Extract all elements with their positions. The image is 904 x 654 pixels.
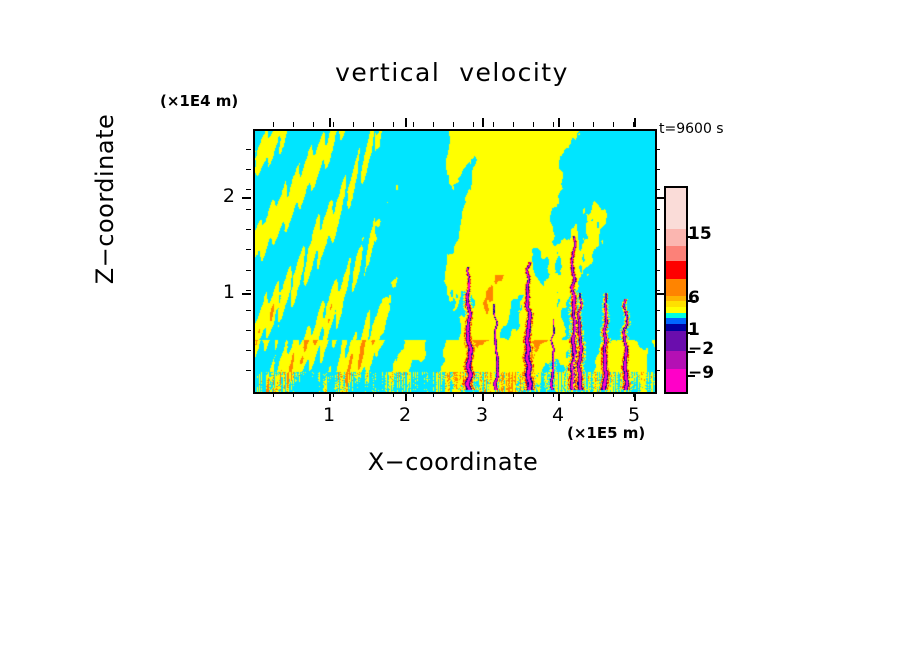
y-axis-minor-tick <box>655 370 660 371</box>
colorbar-tick-label: −9 <box>688 363 714 383</box>
x-axis-minor-tick <box>453 392 454 397</box>
x-axis-minor-tick <box>533 122 534 127</box>
time-annotation: t=9600 s <box>659 121 724 137</box>
x-axis-minor-tick <box>333 122 334 127</box>
y-axis-minor-tick <box>655 229 660 230</box>
y-axis-minor-tick <box>246 189 251 190</box>
x-axis-tick-label: 1 <box>309 404 349 426</box>
y-axis-minor-tick <box>246 290 251 291</box>
colorbar-tick-label: 6 <box>688 288 700 308</box>
x-axis-minor-tick <box>533 392 534 397</box>
y-axis-major-tick <box>242 293 251 295</box>
x-axis-minor-tick <box>553 122 554 127</box>
x-axis-minor-tick <box>573 392 574 397</box>
y-axis-minor-tick <box>246 209 251 210</box>
x-axis-minor-tick <box>293 122 294 127</box>
y-axis-minor-tick <box>655 209 660 210</box>
y-axis-minor-tick <box>655 270 660 271</box>
x-axis-minor-tick <box>293 392 294 397</box>
x-axis-major-tick <box>634 118 636 127</box>
x-axis-minor-tick <box>373 392 374 397</box>
y-axis-major-tick <box>655 293 664 295</box>
y-axis-tick-label: 2 <box>195 185 235 207</box>
y-axis-minor-tick <box>246 229 251 230</box>
x-axis-major-tick <box>482 392 484 401</box>
x-axis-tick-label: 4 <box>538 404 578 426</box>
x-axis-major-tick <box>482 118 484 127</box>
y-axis-minor-tick <box>246 350 251 351</box>
y-axis-minor-tick <box>246 330 251 331</box>
x-axis-minor-tick <box>373 122 374 127</box>
x-axis-minor-tick <box>613 122 614 127</box>
x-axis-minor-tick <box>513 392 514 397</box>
x-axis-minor-tick <box>473 392 474 397</box>
y-axis-tick-label: 1 <box>195 281 235 303</box>
x-axis-minor-tick <box>433 392 434 397</box>
y-axis-minor-tick <box>246 370 251 371</box>
x-axis-minor-tick <box>513 122 514 127</box>
x-axis-tick-label: 3 <box>462 404 502 426</box>
colorbar-band-3 <box>666 261 686 279</box>
colorbar-tick-label: 1 <box>688 320 700 340</box>
page-title: vertical velocity <box>0 58 904 87</box>
colorbar <box>664 186 688 394</box>
contour-field <box>255 131 655 392</box>
x-axis-minor-tick <box>453 122 454 127</box>
x-axis-minor-tick <box>353 122 354 127</box>
y-axis-minor-tick <box>655 169 660 170</box>
x-axis-minor-tick <box>433 122 434 127</box>
x-axis-minor-tick <box>313 392 314 397</box>
y-axis-title: Z−coordinate <box>91 74 119 324</box>
y-axis-minor-tick <box>655 310 660 311</box>
x-axis-title: X−coordinate <box>253 448 653 476</box>
x-axis-minor-tick <box>493 122 494 127</box>
x-axis-tick-label: 5 <box>614 404 654 426</box>
x-axis-minor-tick <box>273 122 274 127</box>
colorbar-tick-label: −2 <box>688 339 714 359</box>
colorbar-band-1 <box>666 229 686 246</box>
y-axis-minor-tick <box>655 249 660 250</box>
colorbar-band-13 <box>666 369 686 392</box>
x-axis-minor-tick <box>573 122 574 127</box>
y-axis-minor-tick <box>655 290 660 291</box>
x-axis-minor-tick <box>353 392 354 397</box>
figure-canvas: vertical velocity (×1E4 m) (×1E5 m) t=96… <box>0 0 904 654</box>
x-axis-major-tick <box>329 392 331 401</box>
y-axis-minor-tick <box>246 249 251 250</box>
x-axis-major-tick <box>329 118 331 127</box>
colorbar-tick-label: 15 <box>688 224 712 244</box>
x-axis-minor-tick <box>333 392 334 397</box>
colorbar-band-11 <box>666 331 686 351</box>
colorbar-band-4 <box>666 279 686 296</box>
x-axis-major-tick <box>634 392 636 401</box>
contour-plot-panel <box>253 129 657 394</box>
x-axis-minor-tick <box>273 392 274 397</box>
x-axis-minor-tick <box>413 122 414 127</box>
y-axis-minor-tick <box>246 270 251 271</box>
x-axis-major-tick <box>558 118 560 127</box>
colorbar-band-2 <box>666 246 686 262</box>
x-axis-minor-tick <box>593 122 594 127</box>
x-axis-minor-tick <box>473 122 474 127</box>
x-axis-minor-tick <box>393 122 394 127</box>
colorbar-band-0 <box>666 188 686 229</box>
x-axis-unit-label: (×1E5 m) <box>567 424 645 442</box>
y-axis-minor-tick <box>655 350 660 351</box>
x-axis-major-tick <box>405 392 407 401</box>
y-axis-major-tick <box>655 197 664 199</box>
y-axis-minor-tick <box>655 189 660 190</box>
x-axis-minor-tick <box>413 392 414 397</box>
x-axis-major-tick <box>558 392 560 401</box>
y-axis-minor-tick <box>246 149 251 150</box>
x-axis-minor-tick <box>313 122 314 127</box>
x-axis-minor-tick <box>593 392 594 397</box>
x-axis-minor-tick <box>493 392 494 397</box>
x-axis-minor-tick <box>553 392 554 397</box>
x-axis-tick-label: 2 <box>385 404 425 426</box>
colorbar-band-10 <box>666 324 686 331</box>
y-axis-minor-tick <box>246 310 251 311</box>
y-axis-unit-label: (×1E4 m) <box>160 92 238 110</box>
x-axis-minor-tick <box>613 392 614 397</box>
y-axis-minor-tick <box>246 169 251 170</box>
x-axis-minor-tick <box>393 392 394 397</box>
y-axis-major-tick <box>242 197 251 199</box>
y-axis-minor-tick <box>655 149 660 150</box>
y-axis-minor-tick <box>655 330 660 331</box>
x-axis-major-tick <box>405 118 407 127</box>
colorbar-band-12 <box>666 351 686 369</box>
